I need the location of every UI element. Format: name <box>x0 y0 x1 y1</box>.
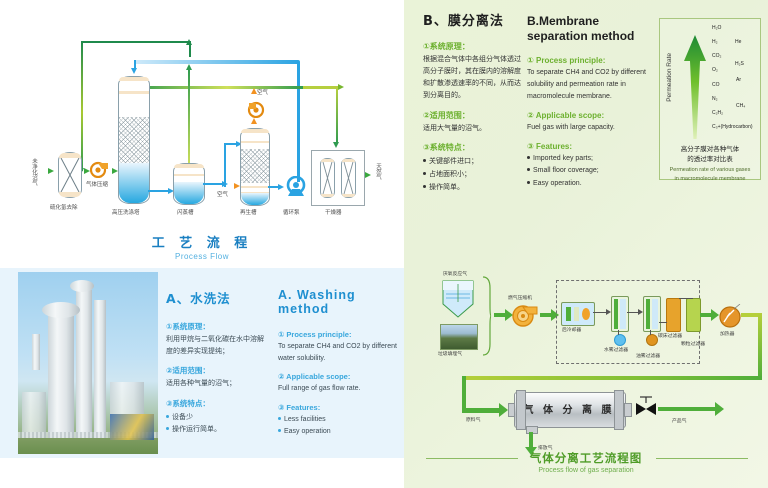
gas-label-c2h2: C₂H₂ <box>712 110 723 116</box>
pipe-cooler-to-water-filter <box>593 312 607 313</box>
label-inlet-unpurified-biogas: 未净化沼气 <box>30 158 38 186</box>
compressor-icon <box>90 160 110 178</box>
label-circulation-pump: 循环泵 <box>283 208 300 216</box>
label-product-gas: 产品气 <box>672 417 686 424</box>
process-flow-title-en: Process Flow <box>0 252 404 261</box>
washing-cn-s3-head: ③系统特点： <box>166 398 270 409</box>
washing-cn-s1-head: ①系统原理： <box>166 321 270 332</box>
pipe-return-corner-down <box>462 376 466 412</box>
gas-label-h2o: H₂O <box>712 25 721 31</box>
pipe-blue-scrubber-to-flash <box>148 190 170 192</box>
anaerobic-reactor-icon <box>442 280 474 318</box>
pipe-green-right-ext <box>303 86 340 89</box>
washing-en-s3-item-1: Easy operation <box>284 428 331 435</box>
membrane-en-s1-body: To separate CH4 and CO2 by different sol… <box>527 67 649 103</box>
vessel-flash-tank <box>173 163 205 205</box>
membrane-cn-block: B、膜分离法 ①系统原理： 根据混合气体中各组分气体透过高分子膜时，其在膜内的溶… <box>423 10 527 193</box>
gas-compressor-icon <box>512 304 538 328</box>
oil-mist-drop-icon <box>646 334 658 346</box>
air-blower-icon <box>245 100 265 118</box>
label-gas-compressor: 燃气压缩机 <box>508 294 532 301</box>
washing-en-s2-body: Full range of gas flow rate. <box>278 383 398 395</box>
membrane-title-en-line1: B.Membrane <box>527 14 649 29</box>
process-flow-title-cn: 工 艺 流 程 <box>0 232 404 251</box>
particle-filter-unit <box>686 298 701 332</box>
washing-cn-block: A、水洗法 ①系统原理： 利用甲烷与二氧化碳在水中溶解度的差异实现提纯； ②适用… <box>166 288 270 435</box>
washing-cn-s1-body: 利用甲烷与二氧化碳在水中溶解度的差异实现提纯； <box>166 334 270 357</box>
washing-en-s1-head: ① Process principle: <box>278 330 398 339</box>
pipe-yellow-down-left <box>81 41 83 171</box>
process-flow-diagram: 未净化沼气 硫化氢去除 气体压缩 高压洗涤塔 闪蒸 <box>0 0 404 268</box>
gas-label-co: CO <box>712 82 720 88</box>
gas-separation-title: 气体分离工艺流程图 Process flow of gas separation <box>404 450 768 474</box>
membrane-en-s3-item-2: Easy operation. <box>533 180 582 187</box>
list-item: Small floor coverage; <box>527 165 649 178</box>
vessel-dryer-a <box>320 158 335 198</box>
label-flash-tank: 闪蒸槽 <box>177 208 194 216</box>
after-cooler-unit <box>561 302 595 326</box>
washing-en-s3-head: ③ Features: <box>278 403 398 412</box>
circulation-pump-icon <box>285 176 307 198</box>
washing-cn-s3-item-1: 操作运行简单。 <box>172 425 221 433</box>
gas-label-he: He <box>735 39 741 45</box>
arrow-right-inlet <box>48 168 54 174</box>
membrane-en-s2-body: Fuel gas with large capacity. <box>527 122 649 134</box>
pipe-green-mid <box>134 86 303 89</box>
washing-en-s2-head: ② Applicable scope: <box>278 372 398 381</box>
label-hp-scrubber: 高压洗涤塔 <box>112 208 140 216</box>
vessel-hp-scrubber <box>118 76 150 204</box>
list-item: Imported key parts; <box>527 153 649 166</box>
membrane-title-cn: B、膜分离法 <box>423 10 527 29</box>
vessel-regeneration-tank <box>240 128 270 206</box>
label-water-mist-filter: 水雾过滤器 <box>604 346 628 353</box>
label-heater: 加热器 <box>720 330 734 337</box>
arrow-right-green-1 <box>338 84 344 90</box>
membrane-cn-s2-head: ②适用范围： <box>423 110 527 121</box>
oil-mist-filter-unit <box>643 296 661 332</box>
pipe-carbon-to-particle-top <box>679 298 693 299</box>
list-item: 操作简单。 <box>423 181 527 194</box>
arrow-right-feed-gas <box>499 403 508 417</box>
membrane-module-left-cap <box>516 390 526 430</box>
membrane-cn-s3-item-2: 操作简单。 <box>429 183 464 191</box>
permeation-caption-cn-1: 高分子膜对各种气体 <box>662 145 758 155</box>
washing-en-block: A. Washing method ① Process principle: T… <box>278 288 398 438</box>
arrow-down-green-2 <box>333 142 339 148</box>
vessel-h2s-removal <box>58 152 82 198</box>
arrow-up-green-1 <box>186 39 192 45</box>
washing-en-s1-body: To separate CH4 and CO2 by different wat… <box>278 341 398 364</box>
arrow-right-product-gas <box>715 402 724 416</box>
washing-en-s3-item-0: Less facilities <box>284 416 326 423</box>
membrane-en-s2-head: ② Applicable scope: <box>527 111 649 120</box>
membrane-cn-s1-body: 根据混合气体中各组分气体透过高分子膜时，其在膜内的溶解度和扩散渗透速率的不同，从… <box>423 54 527 102</box>
vessel-dryer-b <box>341 158 356 198</box>
pipe-blue-right-drop <box>297 62 300 182</box>
pipe-blue-top <box>134 60 300 64</box>
label-gas-compression: 气体压缩 <box>86 180 108 188</box>
washing-cn-s3-item-0: 设备少 <box>172 413 193 421</box>
permeation-caption-en-1: Permeation rate of various gases <box>662 167 758 175</box>
label-outlet-natural-gas: 天然气 <box>374 163 382 180</box>
list-item: Less facilities <box>278 414 398 426</box>
label-regeneration-tank: 再生槽 <box>240 208 257 216</box>
product-valve-icon <box>634 396 658 418</box>
gas-label-h2: H₂ <box>712 39 718 45</box>
pipe-green-mid-vert <box>188 68 190 168</box>
membrane-module-right-cap <box>614 390 624 430</box>
list-item: 设备少 <box>166 411 270 423</box>
membrane-cn-s1-head: ①系统原理： <box>423 41 527 52</box>
gas-label-n2: N₂ <box>712 96 718 102</box>
list-item: 操作运行简单。 <box>166 423 270 435</box>
label-after-cooler: 后冷却器 <box>562 326 581 333</box>
arrow-up-air-to-blower <box>251 118 257 124</box>
arrow-right-blue-4 <box>278 184 284 190</box>
heater-icon <box>718 304 742 328</box>
gas-label-co2: CO₂ <box>712 53 721 59</box>
membrane-en-s1-head: ① Process principle: <box>527 56 649 65</box>
list-item: Easy operation <box>278 426 398 438</box>
landfill-photo-icon <box>440 324 478 350</box>
membrane-en-s3-item-0: Imported key parts; <box>533 155 593 162</box>
washing-title-en: A. Washing method <box>278 288 398 316</box>
gas-label-h2s: H₂S <box>735 61 744 67</box>
list-item: 关键部件进口； <box>423 155 527 168</box>
pipe-return-down <box>758 313 762 380</box>
label-landfill-gas: 垃圾填埋气 <box>438 350 462 357</box>
label-anaerobic-gas: 厌氧反应气 <box>443 270 467 277</box>
carbon-bed-filter-unit <box>666 298 681 332</box>
pipe-green-right-drop <box>336 88 338 144</box>
pipe-return-left <box>462 376 762 380</box>
arrow-right-outlet <box>365 172 371 178</box>
source-bracket <box>482 276 492 356</box>
gas-separation-diagram: 厌氧反应气 垃圾填埋气 燃气压缩机 <box>404 262 768 488</box>
membrane-cn-s3-item-1: 占地面积小； <box>429 170 471 178</box>
pipe-oil-to-carbon <box>659 322 667 323</box>
label-air-top: 空气 <box>257 88 268 96</box>
permeation-axis-label: Permeation Rate <box>666 53 673 102</box>
washing-title-cn: A、水洗法 <box>166 288 270 307</box>
permeation-caption-cn-2: 的透过率对比表 <box>662 155 758 165</box>
label-carbon-bed-filter: 碳床过滤器 <box>658 332 682 339</box>
gas-separation-title-cn: 气体分离工艺流程图 <box>404 450 768 466</box>
arrow-down-blue-1 <box>131 68 137 74</box>
gas-label-ch4: CH₄ <box>736 103 745 109</box>
membrane-en-s3-head: ③ Features: <box>527 142 649 151</box>
pipe-water-filter-drain <box>618 330 619 335</box>
membrane-cn-s3-item-0: 关键部件进口； <box>429 157 478 165</box>
water-mist-drop-icon <box>614 334 626 346</box>
permeation-caption: 高分子膜对各种气体 的透过率对比表 Permeation rate of var… <box>662 145 758 184</box>
washing-cn-s2-body: 适用各种气量的沼气； <box>166 378 270 390</box>
label-feed-gas: 原料气 <box>466 416 480 423</box>
pipe-blue-regen-riser <box>224 143 226 187</box>
water-mist-filter-unit <box>611 296 629 332</box>
gas-label-ar: Ar <box>736 77 741 83</box>
pipe-product-out <box>658 407 716 411</box>
list-item: Easy operation. <box>527 178 649 191</box>
pipe-feed-to-membrane <box>462 408 500 413</box>
membrane-title-en-line2: separation method <box>527 29 649 44</box>
membrane-module-right-flange <box>624 403 632 417</box>
label-particle-filter: 颗粒过滤器 <box>681 340 705 347</box>
permeation-caption-en-2: in macromolecule membrane <box>662 176 758 184</box>
washing-cn-s2-head: ②适用范围： <box>166 365 270 376</box>
label-air-bottom: 空气 <box>217 190 228 198</box>
membrane-cn-s2-body: 适用大气量的沼气。 <box>423 123 527 135</box>
pipe-oil-filter-drain <box>650 330 651 335</box>
gas-label-c3-hydrocarbon: C₃+(Hydrocarbon) <box>712 124 753 130</box>
pipe-exhaust-down <box>529 432 533 448</box>
permeation-gradient-arrow <box>684 35 706 139</box>
permeation-rate-chart: Permeation Rate H₂O H₂ He CO₂ H₂S O₂ Ar … <box>659 18 761 180</box>
membrane-en-block: B.Membrane separation method ① Process p… <box>527 14 649 190</box>
list-item: 占地面积小； <box>423 168 527 181</box>
gas-label-o2: O₂ <box>712 67 718 73</box>
pipe-green-top-return <box>82 41 191 43</box>
plant-photo <box>18 272 158 454</box>
label-dryer: 干燥器 <box>325 208 342 216</box>
membrane-cn-s3-head: ③系统特点： <box>423 142 527 153</box>
label-oil-mist-filter: 油雾过滤器 <box>636 352 660 359</box>
process-flow-title: 工 艺 流 程 Process Flow <box>0 232 404 261</box>
membrane-module-label: 气 体 分 离 膜 <box>514 401 624 416</box>
label-h2s-removal: 硫化氢去除 <box>50 203 78 211</box>
membrane-en-s3-item-1: Small floor coverage; <box>533 167 599 174</box>
gas-separation-title-en: Process flow of gas separation <box>404 467 768 474</box>
